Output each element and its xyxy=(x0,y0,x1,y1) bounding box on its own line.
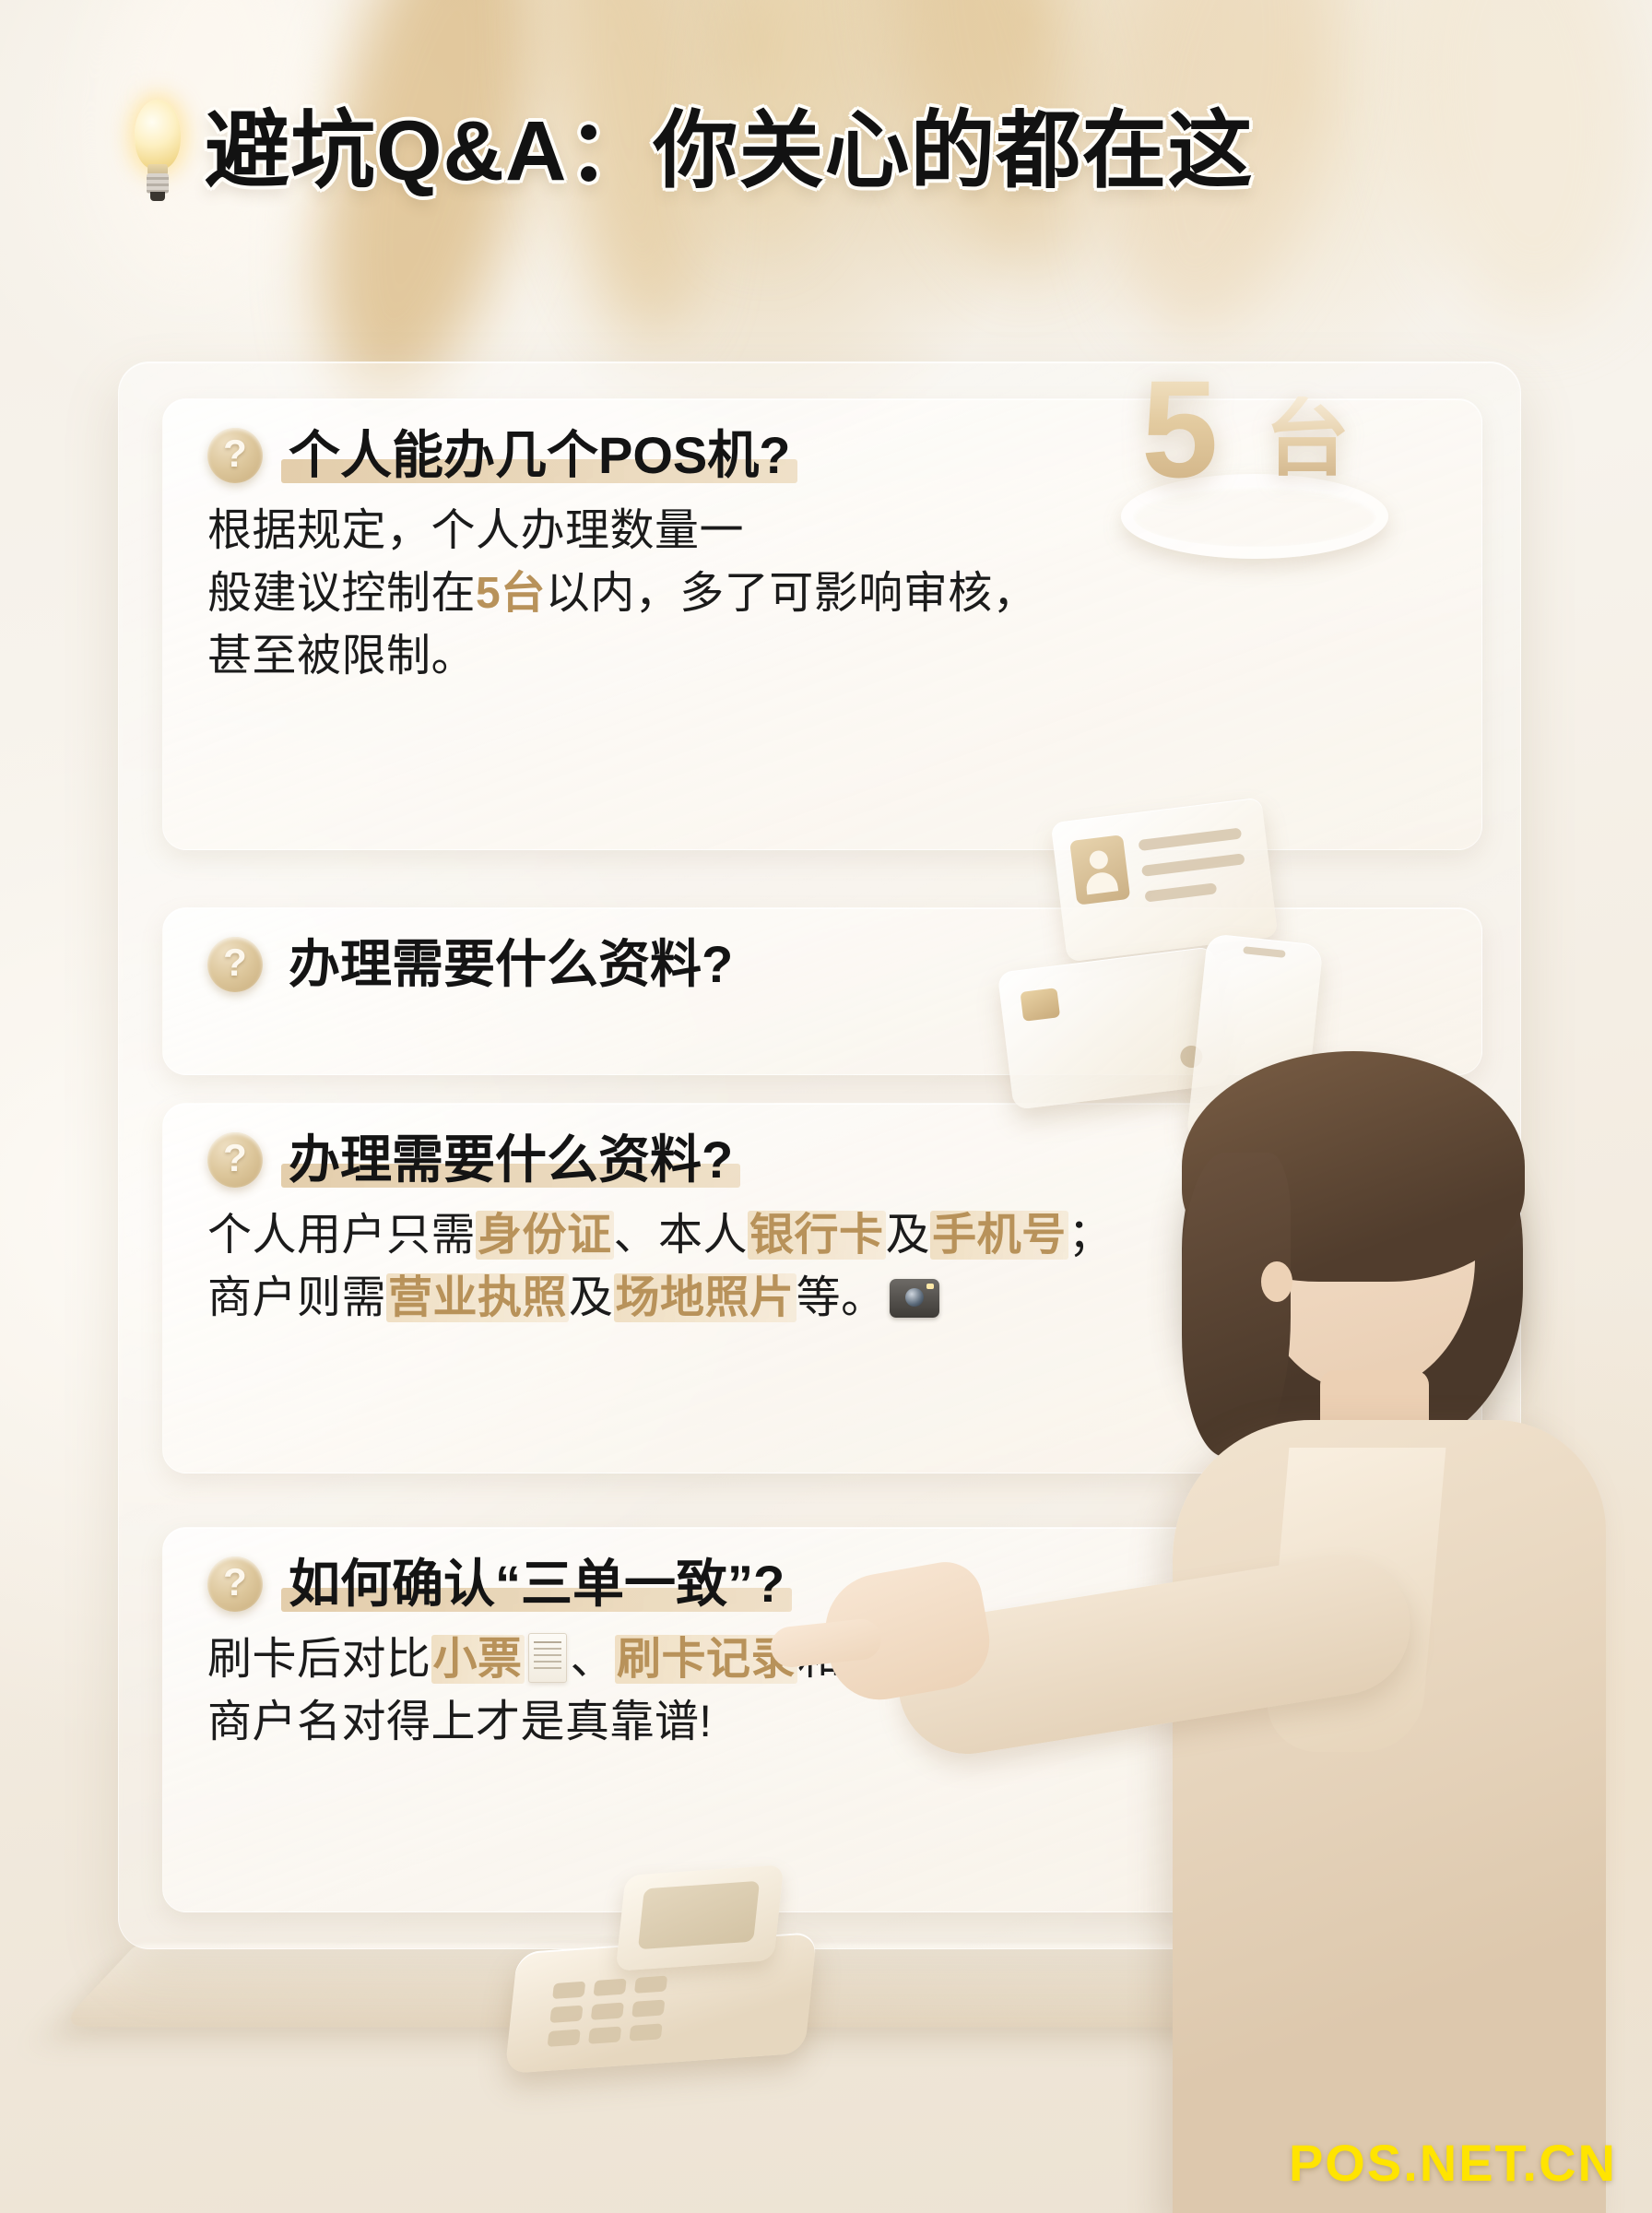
answer-segment: 刷卡后对比 xyxy=(207,1635,431,1684)
question-mark-icon: ? xyxy=(207,428,263,483)
question-row: ?如何确认“三单一致”? xyxy=(163,1528,1481,1614)
question-text: 如何确认“三单一致”? xyxy=(281,1556,792,1614)
answer-line: 商户则需营业执照及场地照片等。 xyxy=(207,1267,1437,1330)
answer-line: 根据规定，个人办理数量一 xyxy=(207,500,1437,562)
answer-keyword: 场地照片 xyxy=(614,1273,796,1322)
question-row: ?个人能办几个POS机? xyxy=(163,399,1481,485)
question-mark-icon: ? xyxy=(207,1556,263,1612)
answer-text: 刷卡后对比小票、刷卡记录和银行流水，商户名对得上才是真靠谱! xyxy=(163,1614,1481,1754)
answer-keyword: 营业执照 xyxy=(386,1273,569,1322)
qa-card[interactable]: ?如何确认“三单一致”?刷卡后对比小票、刷卡记录和银行流水，商户名对得上才是真靠… xyxy=(162,1527,1482,1912)
answer-segment: 个人用户只需 xyxy=(207,1211,476,1260)
answer-segment: 及 xyxy=(569,1273,614,1322)
poster-canvas: 避坑Q&A：你关心的都在这 ?个人能办几个POS机?根据规定，个人办理数量一般建… xyxy=(0,0,1652,2213)
answer-keyword: 身份证 xyxy=(476,1211,614,1260)
answer-segment: ， xyxy=(1025,1635,1070,1684)
answer-segment: 等。 xyxy=(796,1273,886,1322)
question-mark-icon: ? xyxy=(207,937,263,992)
qa-card[interactable]: ?个人能办几个POS机?根据规定，个人办理数量一般建议控制在5台以内，多了可影响… xyxy=(162,398,1482,850)
question-row: ?办理需要什么资料? xyxy=(163,1104,1481,1189)
answer-keyword: 银行流水 xyxy=(843,1635,1025,1684)
answer-segment: 以内，多了可影响审核， xyxy=(546,569,1038,618)
answer-segment: 商户名对得上才是真靠谱! xyxy=(207,1698,712,1746)
answer-keyword: 银行卡 xyxy=(748,1211,886,1260)
answer-line: 刷卡后对比小票、刷卡记录和银行流水， xyxy=(207,1628,1437,1691)
page-header: 避坑Q&A：你关心的都在这 xyxy=(129,100,1253,203)
question-text: 个人能办几个POS机? xyxy=(281,427,797,485)
pos-terminal-3d-icon xyxy=(513,1863,835,2075)
question-text: 办理需要什么资料? xyxy=(281,1131,740,1189)
answer-segment: 般建议控制在 xyxy=(207,569,476,618)
page-title: 避坑Q&A：你关心的都在这 xyxy=(205,109,1253,194)
lightbulb-icon xyxy=(129,100,186,203)
answer-line: 般建议控制在5台以内，多了可影响审核， xyxy=(207,562,1437,625)
question-text: 办理需要什么资料? xyxy=(281,936,740,994)
answer-segment: 和 xyxy=(797,1635,843,1684)
answer-line: 个人用户只需身份证、本人银行卡及手机号； xyxy=(207,1204,1437,1267)
camera-icon xyxy=(890,1279,939,1318)
qa-card[interactable]: ?办理需要什么资料? xyxy=(162,907,1482,1075)
receipt-icon xyxy=(528,1633,567,1683)
answer-keyword: 手机号 xyxy=(930,1211,1068,1260)
question-row: ?办理需要什么资料? xyxy=(163,908,1481,994)
answer-segment: ； xyxy=(1068,1211,1114,1260)
answer-segment: 商户则需 xyxy=(207,1273,386,1322)
answer-line: 商户名对得上才是真靠谱! xyxy=(207,1691,1437,1754)
qa-card[interactable]: ?办理需要什么资料?个人用户只需身份证、本人银行卡及手机号；商户则需营业执照及场… xyxy=(162,1103,1482,1473)
question-mark-icon: ? xyxy=(207,1132,263,1188)
answer-text: 个人用户只需身份证、本人银行卡及手机号；商户则需营业执照及场地照片等。 xyxy=(163,1189,1481,1330)
site-watermark: POS.NET.CN xyxy=(1289,2133,1617,2193)
background-light-streak xyxy=(280,0,577,420)
answer-keyword: 刷卡记录 xyxy=(615,1635,797,1684)
answer-keyword: 5台 xyxy=(476,569,546,618)
answer-keyword: 小票 xyxy=(431,1635,525,1684)
answer-text: 根据规定，个人办理数量一般建议控制在5台以内，多了可影响审核，甚至被限制。 xyxy=(163,485,1481,688)
background-light-streak xyxy=(1379,0,1652,334)
answer-segment: 、 xyxy=(571,1635,616,1684)
answer-segment: 及 xyxy=(886,1211,931,1260)
answer-line: 甚至被限制。 xyxy=(207,625,1437,688)
pos-keypad xyxy=(547,1970,740,2052)
answer-segment: 甚至被限制。 xyxy=(207,632,476,680)
answer-segment: 、本人 xyxy=(614,1211,749,1260)
answer-segment: 根据规定，个人办理数量一 xyxy=(207,506,744,555)
